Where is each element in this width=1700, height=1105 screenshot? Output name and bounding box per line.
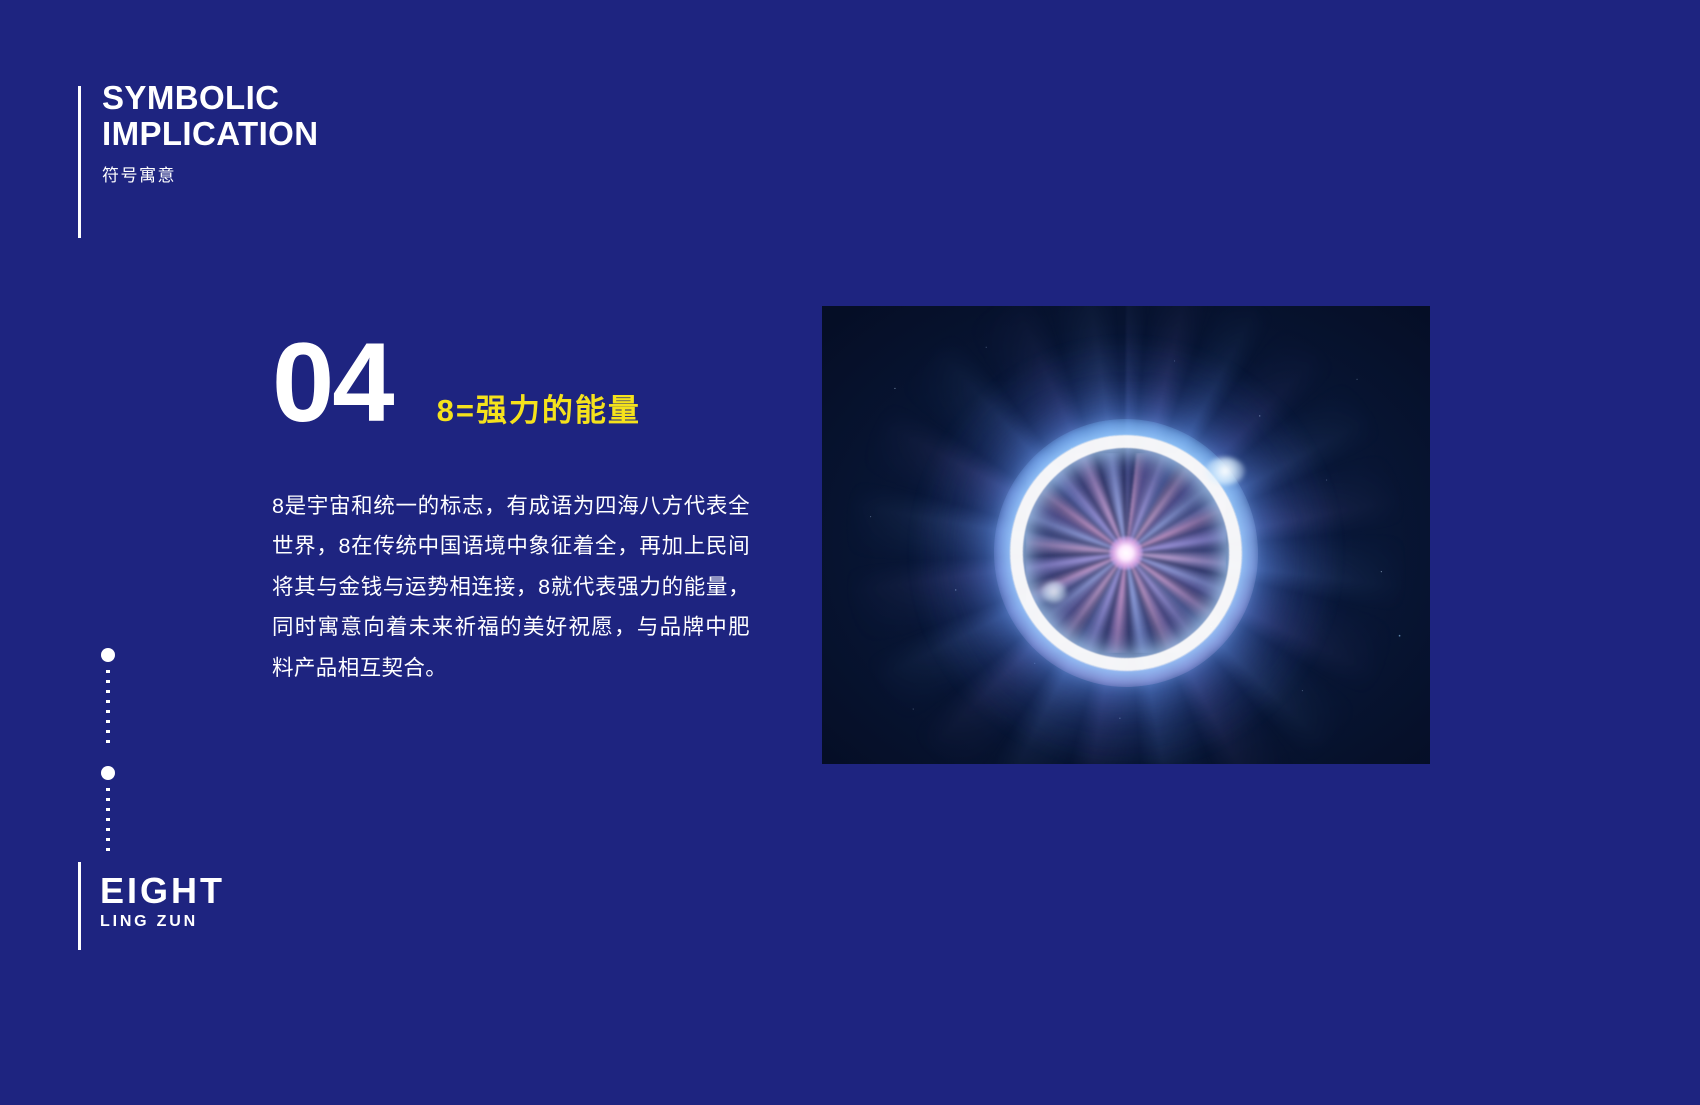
timeline-dashes-2 — [106, 788, 110, 856]
ring-hotspot-2 — [1041, 581, 1067, 603]
brand-name: EIGHT — [100, 872, 225, 910]
footer-vertical-rule — [78, 862, 81, 950]
brand-block: EIGHT LING ZUN — [100, 872, 225, 931]
section-number: 04 — [272, 333, 393, 434]
content-column: 04 8=强力的能量 8是宇宙和统一的标志，有成语为四海八方代表全世界，8在传统… — [272, 324, 772, 688]
section-body-text: 8是宇宙和统一的标志，有成语为四海八方代表全世界，8在传统中国语境中象征着全，再… — [272, 486, 750, 688]
page-title-english: SYMBOLIC IMPLICATION — [102, 80, 702, 151]
ring-core-glow — [1109, 536, 1143, 570]
header-vertical-rule — [78, 86, 81, 238]
page-title-chinese: 符号寓意 — [102, 161, 702, 186]
slide-header: SYMBOLIC IMPLICATION 符号寓意 — [102, 80, 702, 186]
timeline-decoration — [101, 648, 121, 848]
timeline-dot-1 — [101, 648, 115, 662]
timeline-dot-2 — [101, 766, 115, 780]
brand-tagline: LING ZUN — [100, 913, 225, 931]
ring-hotspot-1 — [1205, 457, 1245, 485]
cosmic-burst-image — [822, 306, 1430, 764]
section-subheading: 8=强力的能量 — [437, 385, 641, 434]
timeline-dashes-1 — [106, 670, 110, 748]
slide-root: SYMBOLIC IMPLICATION 符号寓意 04 8=强力的能量 8是宇… — [0, 0, 1700, 1105]
section-number-row: 04 8=强力的能量 — [272, 324, 772, 434]
